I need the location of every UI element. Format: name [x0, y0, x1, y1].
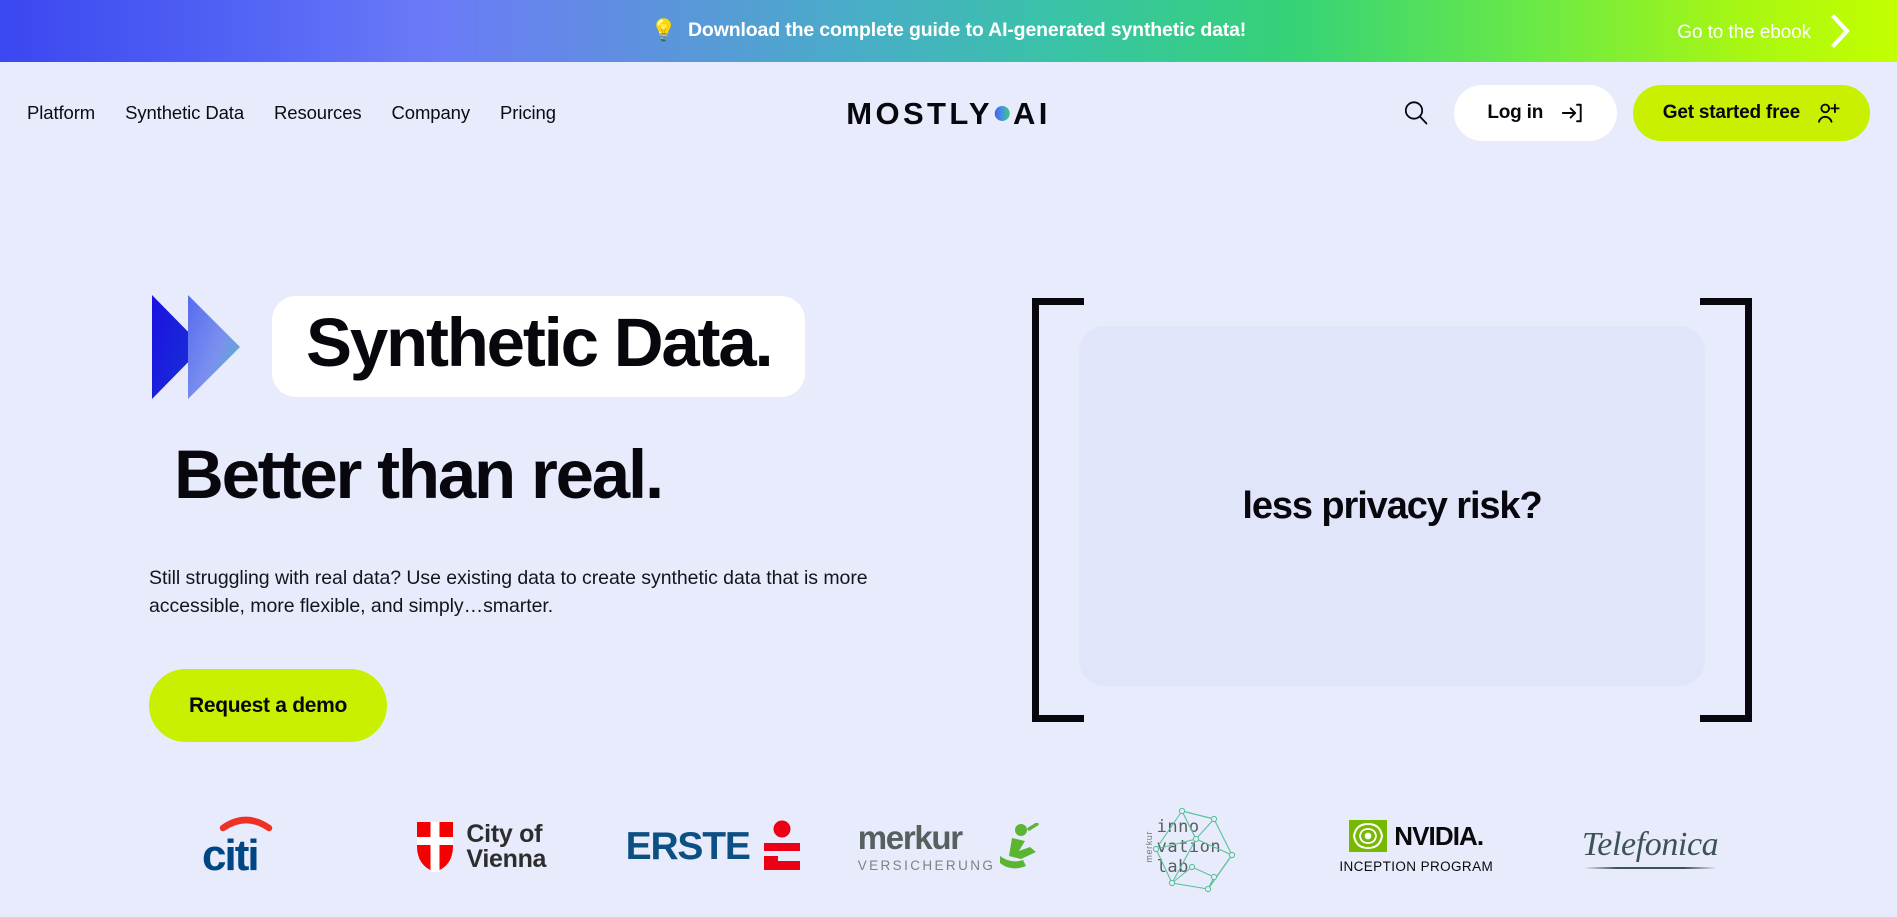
nvidia-wordmark: NVIDIA.	[1394, 821, 1483, 852]
go-to-ebook-label: Go to the ebook	[1677, 18, 1811, 44]
client-logo-strip: citi City of Vienna ERSTE	[0, 801, 1897, 893]
hero-title-line2: Better than real.	[174, 440, 968, 509]
main-navigation: Platform Synthetic Data Resources Compan…	[0, 62, 1897, 164]
hero-subtitle: Still struggling with real data? Use exi…	[149, 565, 949, 620]
svg-text:citi: citi	[202, 831, 258, 878]
promo-message-group: 💡 Download the complete guide to AI-gene…	[0, 0, 1897, 62]
login-label: Log in	[1487, 102, 1543, 124]
logo-citi: citi	[130, 801, 364, 893]
logo-nvidia-inception: NVIDIA. INCEPTION PROGRAM	[1299, 801, 1533, 893]
logo-text-ai: AI	[1013, 96, 1051, 132]
vienna-shield-icon	[415, 820, 455, 874]
nav-actions: Log in Get started free	[1394, 62, 1870, 164]
hero-question-panel: less privacy risk?	[1079, 326, 1705, 686]
telefonica-wordmark: Telefonica	[1582, 826, 1718, 864]
logo-erste: ERSTE	[598, 801, 832, 893]
logo-merkur-innovation-lab: merkur inno vation lab	[1065, 801, 1299, 893]
hero-question-text: less privacy risk?	[1242, 485, 1541, 528]
telefonica-underline	[1584, 867, 1717, 869]
hero-bracket-panel: less privacy risk?	[1032, 298, 1752, 722]
go-to-ebook-link[interactable]: Go to the ebook	[1677, 0, 1851, 62]
get-started-label: Get started free	[1663, 102, 1800, 124]
nav-item-company[interactable]: Company	[392, 102, 470, 124]
logo-city-of-vienna: City of Vienna	[364, 801, 598, 893]
merkur-figure-icon	[999, 823, 1039, 873]
site-logo[interactable]: MOSTLY AI	[846, 96, 1051, 132]
chevron-right-icon	[1831, 14, 1851, 48]
double-chevron-mark	[148, 292, 246, 402]
promo-message: Download the complete guide to AI-genera…	[688, 19, 1246, 42]
bracket-right-spine	[1745, 298, 1752, 722]
nav-item-resources[interactable]: Resources	[274, 102, 362, 124]
merkur-wordmark: merkur	[858, 821, 996, 854]
hero-title-pill: Synthetic Data.	[272, 296, 805, 397]
bracket-bottom-left-arm	[1032, 715, 1084, 722]
get-started-free-button[interactable]: Get started free	[1633, 85, 1870, 141]
nvidia-eye-icon	[1349, 820, 1387, 852]
vienna-line2: Vienna	[466, 847, 546, 873]
citi-logo-icon: citi	[201, 816, 293, 878]
vienna-line1: City of	[466, 822, 546, 848]
erste-wordmark: ERSTE	[626, 825, 750, 869]
hero-title-row: Synthetic Data.	[148, 290, 968, 402]
nav-item-platform[interactable]: Platform	[27, 102, 95, 124]
bracket-top-left-arm	[1032, 298, 1084, 305]
request-demo-button[interactable]: Request a demo	[149, 669, 387, 742]
login-button[interactable]: Log in	[1454, 85, 1617, 141]
logo-merkur-versicherung: merkur VERSICHERUNG	[832, 801, 1066, 893]
erste-s-icon	[760, 820, 804, 874]
search-icon	[1402, 99, 1430, 127]
bracket-bottom-right-arm	[1700, 715, 1752, 722]
nav-item-pricing[interactable]: Pricing	[500, 102, 556, 124]
user-plus-icon	[1816, 101, 1840, 125]
nav-item-synthetic-data[interactable]: Synthetic Data	[125, 102, 244, 124]
hero-content: Synthetic Data. Better than real. Still …	[148, 290, 968, 742]
login-arrow-icon	[1561, 102, 1583, 124]
nvidia-program-label: INCEPTION PROGRAM	[1339, 859, 1493, 874]
merkur-subline: VERSICHERUNG	[858, 858, 996, 873]
search-button[interactable]	[1394, 91, 1438, 135]
gradient-dot-icon	[995, 106, 1010, 121]
nav-links: Platform Synthetic Data Resources Compan…	[27, 62, 556, 164]
logo-text-mostly: MOSTLY	[846, 96, 993, 132]
request-demo-label: Request a demo	[189, 694, 347, 718]
bracket-left-spine	[1032, 298, 1039, 722]
hero-title-line1: Synthetic Data.	[306, 308, 771, 377]
promo-banner[interactable]: 💡 Download the complete guide to AI-gene…	[0, 0, 1897, 62]
lightbulb-icon: 💡	[651, 20, 677, 41]
page-root: 💡 Download the complete guide to AI-gene…	[0, 0, 1897, 917]
logo-telefonica: Telefonica	[1533, 801, 1767, 893]
innolab-network-icon	[1152, 805, 1238, 893]
